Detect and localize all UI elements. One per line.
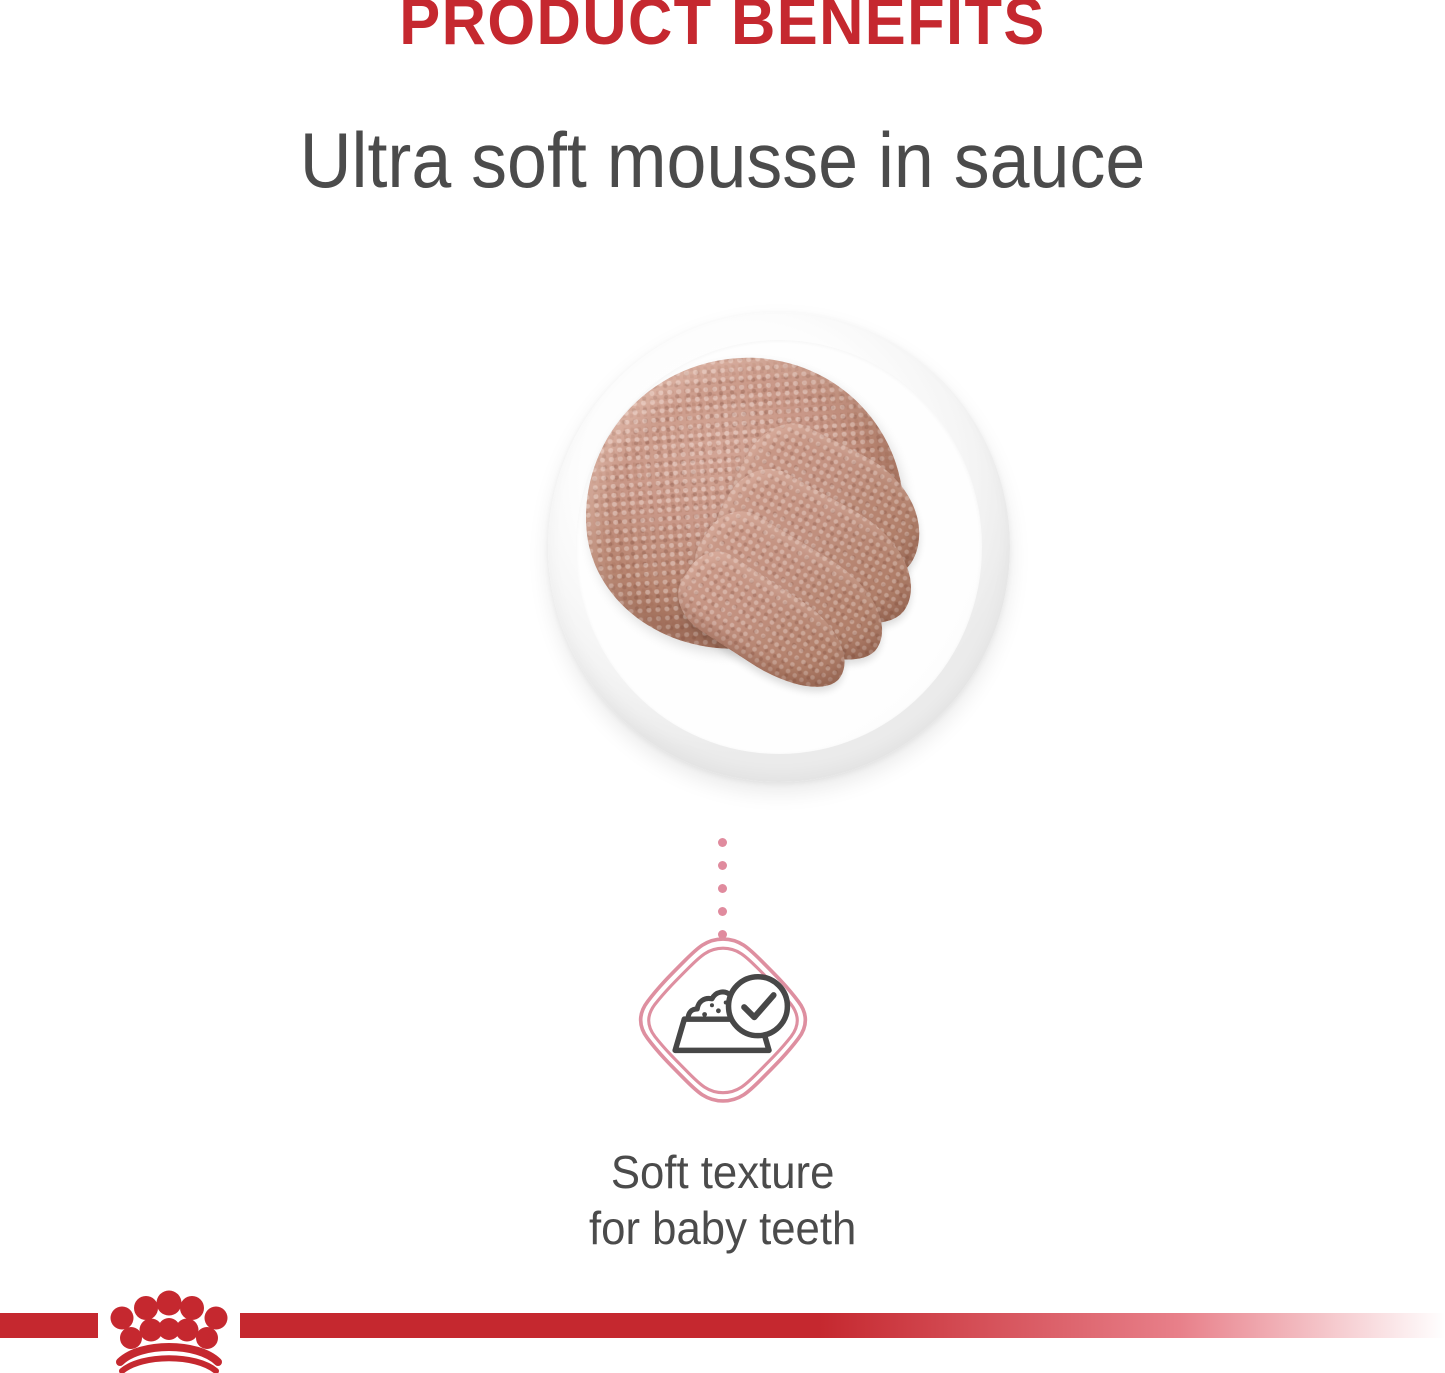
brand-bar-right-gradient <box>240 1313 1445 1338</box>
benefit-caption: Soft texture for baby teeth <box>589 1144 856 1256</box>
connector-dot <box>718 884 727 893</box>
dotted-connector <box>0 838 1445 939</box>
product-photo: White round plate with a pink-brown mous… <box>530 300 1020 800</box>
connector-dot <box>718 907 727 916</box>
brand-bar-left <box>0 1313 98 1338</box>
connector-dot <box>718 861 727 870</box>
product-photo-description: White round plate with a pink-brown mous… <box>530 300 531 301</box>
check-circle-icon <box>728 977 787 1036</box>
benefit-block: Soft texture for baby teeth <box>0 928 1445 1256</box>
page-eyebrow-title: PRODUCT BENEFITS <box>51 0 1395 54</box>
connector-dot <box>718 838 727 847</box>
footer-brand-bar <box>0 1278 1445 1373</box>
mousse-portion <box>585 358 935 728</box>
food-bowl-check-icon <box>631 928 815 1112</box>
page-title: Ultra soft mousse in sauce <box>58 120 1387 202</box>
royal-canin-crown-logo <box>98 1286 240 1373</box>
